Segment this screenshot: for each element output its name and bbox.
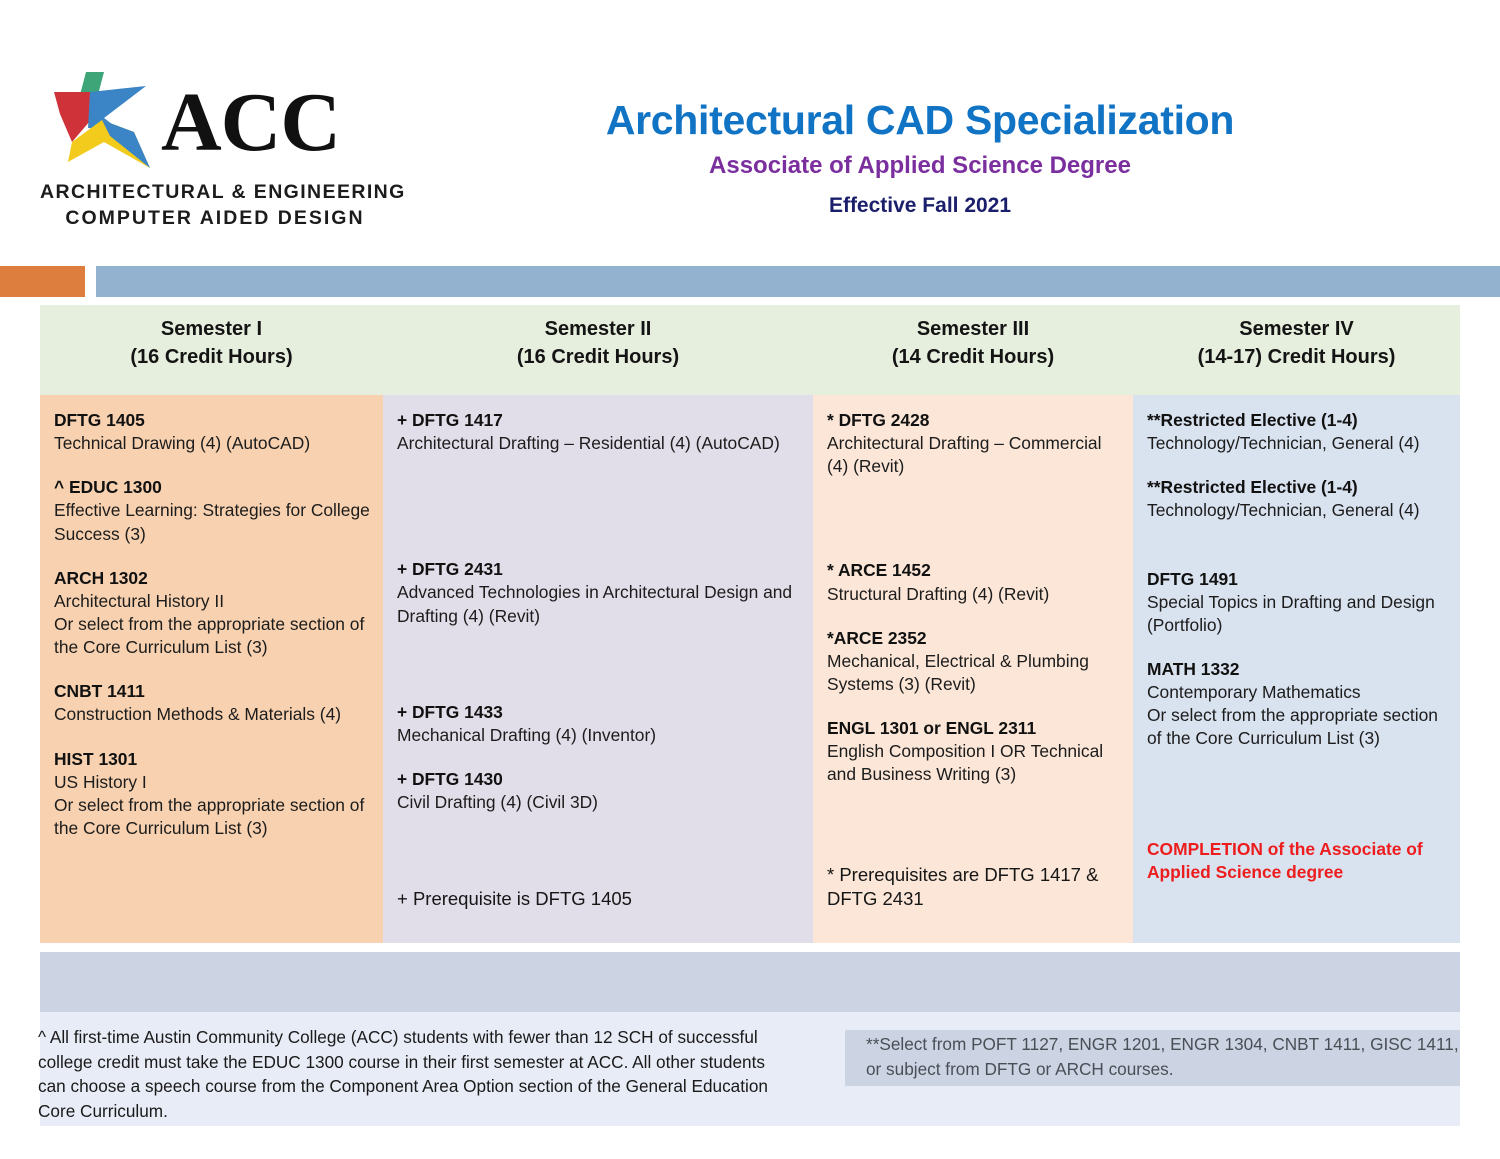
page-header: ACC ARCHITECTURAL & ENGINEERING COMPUTER… — [0, 0, 1500, 258]
table-header-row: Semester I (16 Credit Hours) Semester II… — [40, 305, 1460, 395]
course-item: + DFTG 1430 Civil Drafting (4) (Civil 3D… — [397, 768, 801, 814]
course-name: Contemporary Mathematics Or select from … — [1147, 681, 1448, 750]
course-name: US History I Or select from the appropri… — [54, 771, 371, 840]
semester-1-column: DFTG 1405 Technical Drawing (4) (AutoCAD… — [40, 395, 383, 943]
course-name: Special Topics in Drafting and Design (P… — [1147, 591, 1448, 637]
course-name: Mechanical, Electrical & Plumbing System… — [827, 650, 1121, 696]
course-code: ARCH 1302 — [54, 567, 371, 590]
course-code: + DFTG 1417 — [397, 409, 801, 432]
course-code: + DFTG 1433 — [397, 701, 801, 724]
course-code: ENGL 1301 or ENGL 2311 — [827, 717, 1121, 740]
course-name: English Composition I OR Technical and B… — [827, 740, 1121, 786]
semester-1-credits: (16 Credit Hours) — [40, 343, 383, 371]
course-item: **Restricted Elective (1-4) Technology/T… — [1147, 476, 1448, 522]
semester-2-label: Semester II — [383, 315, 813, 343]
course-code: * DFTG 2428 — [827, 409, 1121, 432]
course-item: + DFTG 2431 Advanced Technologies in Arc… — [397, 558, 801, 627]
course-name: Architectural Drafting – Residential (4)… — [397, 432, 801, 455]
course-name: Effective Learning: Strategies for Colle… — [54, 499, 371, 545]
footnote-right: **Select from POFT 1127, ENGR 1201, ENGR… — [866, 1032, 1466, 1081]
course-code: + DFTG 1430 — [397, 768, 801, 791]
course-name: Architectural History II Or select from … — [54, 590, 371, 659]
accent-bar-blue — [96, 266, 1500, 297]
curriculum-table: Semester I (16 Credit Hours) Semester II… — [40, 305, 1460, 943]
title-block: Architectural CAD Specialization Associa… — [400, 98, 1440, 218]
course-item: CNBT 1411 Construction Methods & Materia… — [54, 680, 371, 726]
course-item: **Restricted Elective (1-4) Technology/T… — [1147, 409, 1448, 455]
column-header-semester-1: Semester I (16 Credit Hours) — [40, 305, 383, 395]
course-name: Construction Methods & Materials (4) — [54, 703, 371, 726]
course-item: DFTG 1491 Special Topics in Drafting and… — [1147, 568, 1448, 637]
course-name: Technology/Technician, General (4) — [1147, 432, 1448, 455]
semester-3-label: Semester III — [813, 315, 1133, 343]
course-name: Civil Drafting (4) (Civil 3D) — [397, 791, 801, 814]
course-item: + DFTG 1433 Mechanical Drafting (4) (Inv… — [397, 701, 801, 747]
table-body-row: DFTG 1405 Technical Drawing (4) (AutoCAD… — [40, 395, 1460, 943]
acc-logo: ACC ARCHITECTURAL & ENGINEERING COMPUTER… — [40, 70, 390, 230]
semester-3-credits: (14 Credit Hours) — [813, 343, 1133, 371]
lower-band-primary — [40, 952, 1460, 1012]
course-name: Structural Drafting (4) (Revit) — [827, 583, 1121, 606]
course-item: + DFTG 1417 Architectural Drafting – Res… — [397, 409, 801, 455]
semester-2-credits: (16 Credit Hours) — [383, 343, 813, 371]
course-item: HIST 1301 US History I Or select from th… — [54, 748, 371, 841]
course-name: Architectural Drafting – Commercial (4) … — [827, 432, 1121, 478]
footnote-left: ^ All first-time Austin Community Colleg… — [38, 1025, 768, 1123]
course-code: **Restricted Elective (1-4) — [1147, 409, 1448, 432]
semester-4-label: Semester IV — [1133, 315, 1460, 343]
column-header-semester-3: Semester III (14 Credit Hours) — [813, 305, 1133, 395]
course-item: * ARCE 1452 Structural Drafting (4) (Rev… — [827, 559, 1121, 605]
accent-bar-orange — [0, 266, 85, 297]
course-code: * ARCE 1452 — [827, 559, 1121, 582]
course-code: **Restricted Elective (1-4) — [1147, 476, 1448, 499]
effective-date: Effective Fall 2021 — [400, 194, 1440, 218]
semester-4-credits: (14-17) Credit Hours) — [1133, 343, 1460, 371]
logo-subtitle-line1: ARCHITECTURAL & ENGINEERING — [40, 181, 390, 204]
course-code: CNBT 1411 — [54, 680, 371, 703]
course-name: Technology/Technician, General (4) — [1147, 499, 1448, 522]
course-item: *ARCE 2352 Mechanical, Electrical & Plum… — [827, 627, 1121, 696]
page-subtitle: Associate of Applied Science Degree — [400, 152, 1440, 180]
logo-subtitle-line2: COMPUTER AIDED DESIGN — [40, 207, 390, 230]
course-code: DFTG 1405 — [54, 409, 371, 432]
course-code: MATH 1332 — [1147, 658, 1448, 681]
course-item: DFTG 1405 Technical Drawing (4) (AutoCAD… — [54, 409, 371, 455]
semester-1-label: Semester I — [40, 315, 383, 343]
course-item: ENGL 1301 or ENGL 2311 English Compositi… — [827, 717, 1121, 786]
course-item: ^ EDUC 1300 Effective Learning: Strategi… — [54, 476, 371, 545]
semester-4-column: **Restricted Elective (1-4) Technology/T… — [1133, 395, 1460, 943]
column-header-semester-4: Semester IV (14-17) Credit Hours) — [1133, 305, 1460, 395]
course-item: * DFTG 2428 Architectural Drafting – Com… — [827, 409, 1121, 478]
logo-row: ACC — [40, 70, 390, 175]
column-header-semester-2: Semester II (16 Credit Hours) — [383, 305, 813, 395]
course-code: + DFTG 2431 — [397, 558, 801, 581]
course-name: Mechanical Drafting (4) (Inventor) — [397, 724, 801, 747]
page-title: Architectural CAD Specialization — [400, 98, 1440, 144]
semester-2-column: + DFTG 1417 Architectural Drafting – Res… — [383, 395, 813, 943]
completion-note: COMPLETION of the Associate of Applied S… — [1147, 838, 1450, 884]
course-code: HIST 1301 — [54, 748, 371, 771]
semester-3-column: * DFTG 2428 Architectural Drafting – Com… — [813, 395, 1133, 943]
semester-3-footnote: * Prerequisites are DFTG 1417 & DFTG 243… — [827, 863, 1123, 911]
logo-acronym: ACC — [161, 85, 340, 161]
course-item: ARCH 1302 Architectural History II Or se… — [54, 567, 371, 660]
course-name: Advanced Technologies in Architectural D… — [397, 581, 801, 627]
acc-star-icon — [50, 70, 175, 175]
course-name: Technical Drawing (4) (AutoCAD) — [54, 432, 371, 455]
course-code: ^ EDUC 1300 — [54, 476, 371, 499]
accent-bar-row — [0, 266, 1500, 297]
course-code: *ARCE 2352 — [827, 627, 1121, 650]
course-item: MATH 1332 Contemporary Mathematics Or se… — [1147, 658, 1448, 751]
semester-2-footnote: + Prerequisite is DFTG 1405 — [397, 887, 803, 911]
course-code: DFTG 1491 — [1147, 568, 1448, 591]
